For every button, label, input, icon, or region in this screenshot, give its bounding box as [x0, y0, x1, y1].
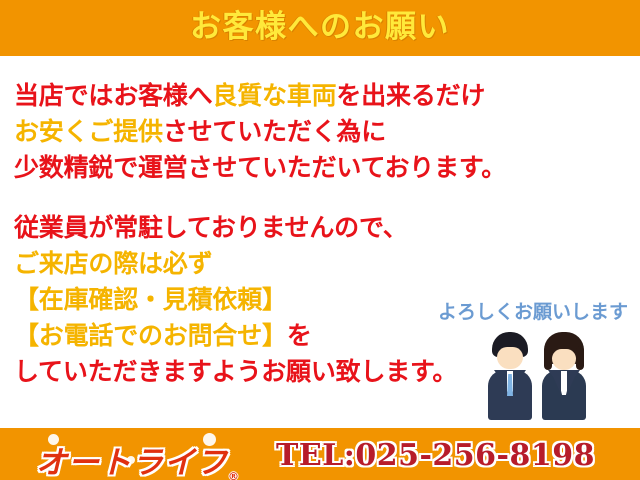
notice-line-7-seg-2: を — [287, 321, 312, 350]
notice-line-3: 少数精鋭で運営させていただいております。 — [14, 150, 574, 186]
notice-line-4: 従業員が常駐しておりませんので、 — [14, 210, 574, 246]
notice-line-7-seg-1: 【お電話でのお問合せ】 — [14, 321, 287, 350]
dealership-notice-banner: お客様へのお願い 当店ではお客様へ良質な車両を出来るだけ お安くご提供させていた… — [0, 0, 640, 480]
dealership-logo-text: オートライフ — [36, 445, 228, 480]
notice-line-5-seg-1: ご来店の際は必ず — [14, 249, 212, 278]
notice-line-2-seg-2: させていただく為に — [163, 117, 386, 146]
bowing-businesswoman-icon — [540, 330, 588, 420]
telephone-number: TEL:025-256-8198 — [276, 438, 595, 473]
notice-line-4-seg-1: 従業員が常駐しておりませんので、 — [14, 213, 408, 242]
woman-face — [552, 349, 576, 370]
bowing-businessman-icon — [486, 330, 534, 420]
woman-hair-side-left — [544, 346, 552, 370]
trademark-icon: ® — [228, 470, 240, 480]
dealership-logo: オートライフ® — [36, 437, 240, 480]
notice-line-1-seg-1: 当店ではお客様へ — [14, 81, 212, 110]
notice-line-1-seg-3: を出来るだけ — [336, 81, 485, 110]
notice-line-1: 当店ではお客様へ良質な車両を出来るだけ — [14, 78, 574, 114]
paragraph-spacer — [14, 186, 574, 210]
notice-line-5: ご来店の際は必ず — [14, 246, 574, 282]
bowing-people-illustration — [486, 330, 590, 420]
man-face — [497, 347, 523, 369]
greeting-note: よろしくお願いします — [438, 297, 628, 324]
notice-line-1-seg-2: 良質な車両 — [212, 81, 336, 110]
notice-line-8-seg-1: していただきますようお願い致します。 — [14, 357, 457, 386]
page-title: お客様へのお願い — [0, 0, 640, 56]
notice-line-6-seg-1: 【在庫確認・見積依頼】 — [14, 285, 287, 314]
woman-hair-side-right — [576, 346, 584, 370]
notice-line-2-seg-1: お安くご提供 — [14, 117, 163, 146]
notice-line-3-seg-1: 少数精鋭で運営させていただいております。 — [14, 153, 506, 182]
notice-line-2: お安くご提供させていただく為に — [14, 114, 574, 150]
